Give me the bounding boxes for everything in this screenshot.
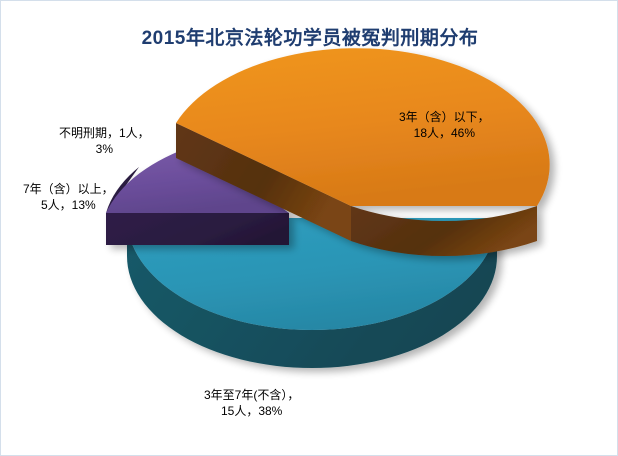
slice-label-over7: 7年（含）以上， 5人，13% xyxy=(23,181,114,213)
slice-label-over7-line2: 5人，13% xyxy=(23,197,114,213)
pie-slice-over7-side xyxy=(106,213,289,245)
slice-label-unknown-line1: 不明刑期，1人， xyxy=(59,125,150,141)
slice-label-under3-line1: 3年（含）以下， xyxy=(399,109,490,125)
slice-label-over7-line1: 7年（含）以上， xyxy=(23,181,114,197)
slice-label-under3-line2: 18人，46% xyxy=(399,125,490,141)
slice-label-unknown: 不明刑期，1人， 3% xyxy=(59,125,150,157)
pie-chart-graphic xyxy=(1,1,618,456)
slice-label-under3: 3年（含）以下， 18人，46% xyxy=(399,109,490,141)
slice-label-mid-line1: 3年至7年(不含）， xyxy=(204,387,299,403)
slice-label-mid-line2: 15人，38% xyxy=(204,403,299,419)
chart-page: 2015年北京法轮功学员被冤判刑期分布 xyxy=(0,0,618,456)
slice-label-unknown-line2: 3% xyxy=(59,141,150,157)
slice-label-mid: 3年至7年(不含）， 15人，38% xyxy=(204,387,299,419)
pie-slice-under3-side-outer xyxy=(351,206,537,256)
